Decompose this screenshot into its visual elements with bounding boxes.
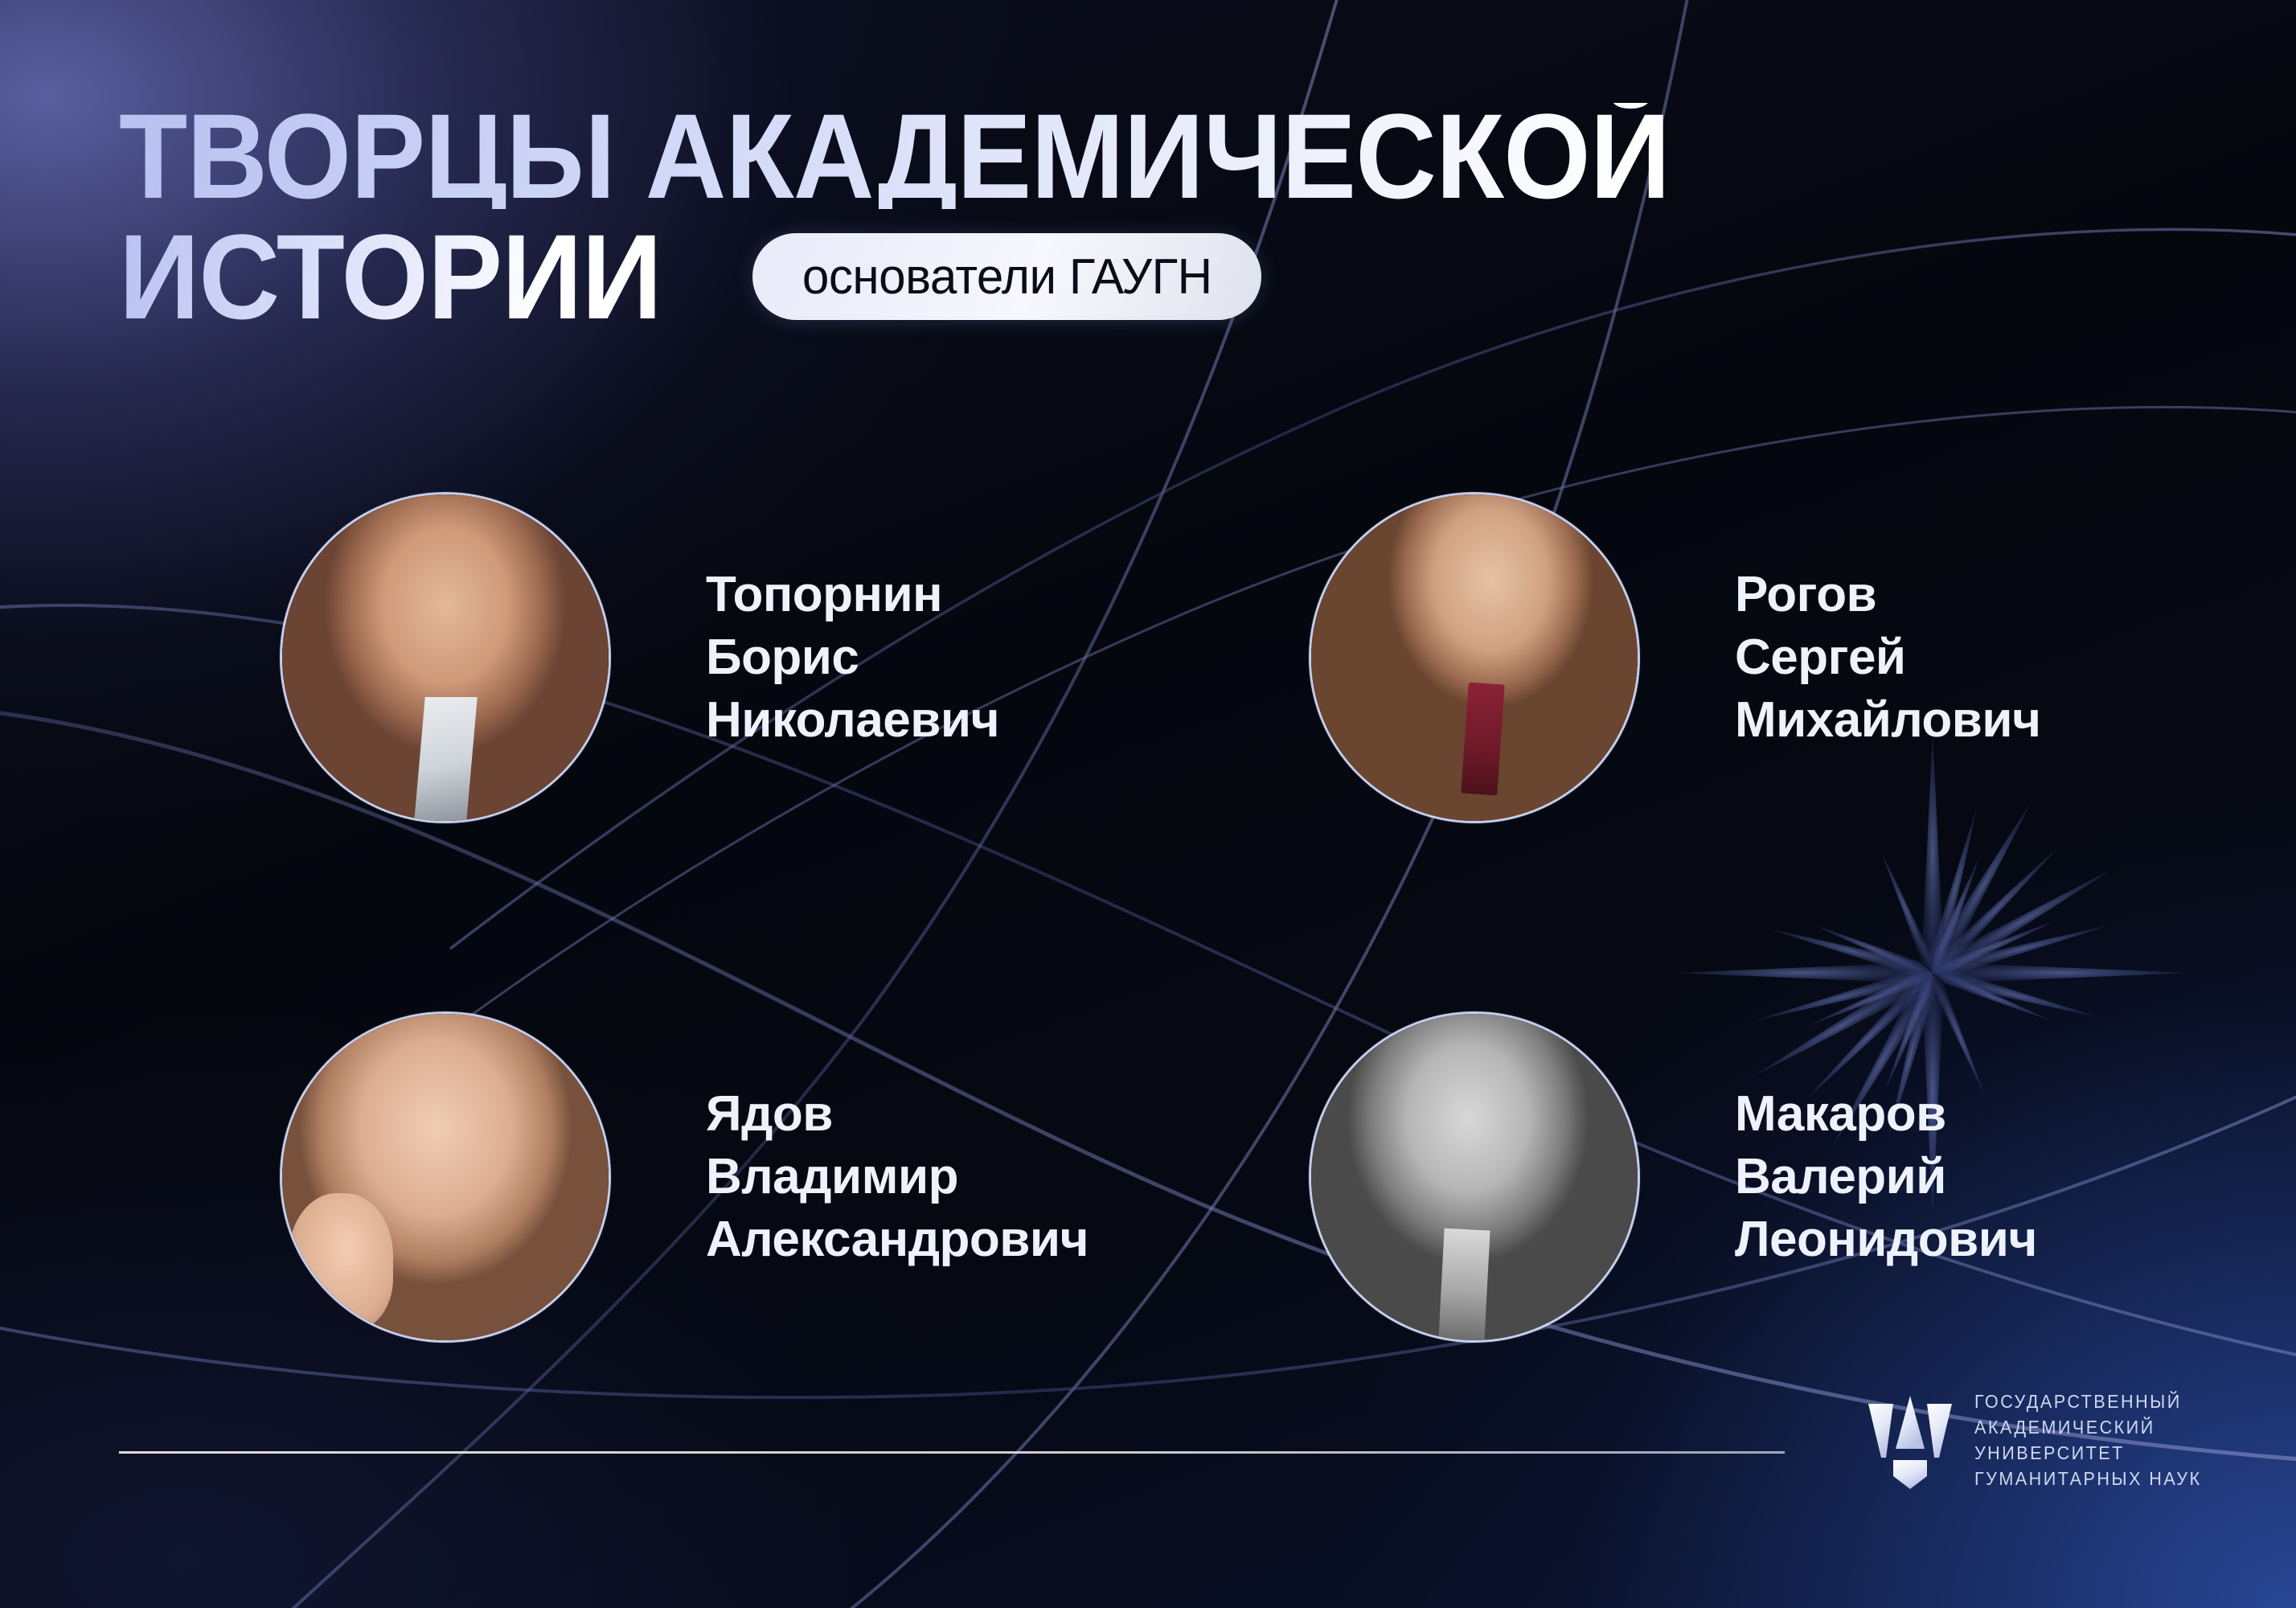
founder-card-topornin: Топорнин Борис Николаевич	[280, 492, 999, 823]
given-name: Борис	[706, 626, 999, 689]
founder-name-yadov: Ядов Владимир Александрович	[706, 1083, 1089, 1271]
title-line-1: ТВОРЦЫ АКАДЕМИЧЕСКОЙ	[119, 103, 2078, 209]
footer-divider	[119, 1451, 1785, 1454]
portrait-rogov-image	[1311, 494, 1638, 821]
logo-line-3: УНИВЕРСИТЕТ	[1974, 1443, 2201, 1463]
surname: Ядов	[706, 1083, 1089, 1146]
founder-card-rogov: Рогов Сергей Михайлович	[1309, 492, 2041, 823]
gaugn-a-monogram-icon	[1867, 1389, 1954, 1491]
founder-name-topornin: Топорнин Борис Николаевич	[706, 564, 999, 752]
subtitle-badge-label: основатели ГАУГН	[802, 248, 1212, 306]
portrait-yadov-image	[282, 1014, 609, 1340]
avatar-makarov	[1309, 1011, 1640, 1343]
avatar-topornin	[280, 492, 611, 823]
given-name: Валерий	[1735, 1146, 2037, 1208]
logo-line-4: ГУМАНИТАРНЫХ НАУК	[1974, 1469, 2201, 1489]
patronymic: Михайлович	[1735, 689, 2041, 752]
founder-card-yadov: Ядов Владимир Александрович	[280, 1011, 1089, 1343]
patronymic: Александрович	[706, 1208, 1089, 1271]
portrait-topornin-image	[282, 494, 609, 821]
logo-line-1: ГОСУДАРСТВЕННЫЙ	[1974, 1392, 2201, 1412]
patronymic: Леонидович	[1735, 1208, 2037, 1271]
founder-card-makarov: Макаров Валерий Леонидович	[1309, 1011, 2037, 1343]
patronymic: Николаевич	[706, 689, 999, 752]
founder-name-rogov: Рогов Сергей Михайлович	[1735, 564, 2041, 752]
gaugn-logo: ГОСУДАРСТВЕННЫЙ АКАДЕМИЧЕСКИЙ УНИВЕРСИТЕ…	[1867, 1389, 2216, 1491]
title-line-2: ИСТОРИИ	[119, 224, 662, 330]
logo-line-2: АКАДЕМИЧЕСКИЙ	[1974, 1417, 2201, 1438]
surname: Рогов	[1735, 564, 2041, 626]
surname: Топорнин	[706, 564, 999, 626]
surname: Макаров	[1735, 1083, 2037, 1146]
subtitle-badge: основатели ГАУГН	[752, 233, 1262, 320]
given-name: Владимир	[706, 1146, 1089, 1208]
page-title: ТВОРЦЫ АКАДЕМИЧЕСКОЙ ИСТОРИИ основатели …	[119, 103, 2225, 330]
poster-canvas: ТВОРЦЫ АКАДЕМИЧЕСКОЙ ИСТОРИИ основатели …	[0, 0, 2296, 1608]
founder-name-makarov: Макаров Валерий Леонидович	[1735, 1083, 2037, 1271]
portrait-makarov-image	[1311, 1014, 1638, 1340]
avatar-rogov	[1309, 492, 1640, 823]
gaugn-logo-text: ГОСУДАРСТВЕННЫЙ АКАДЕМИЧЕСКИЙ УНИВЕРСИТЕ…	[1974, 1392, 2216, 1489]
title-row-second: ИСТОРИИ основатели ГАУГН	[119, 224, 2225, 330]
avatar-yadov	[280, 1011, 611, 1343]
given-name: Сергей	[1735, 626, 2041, 689]
